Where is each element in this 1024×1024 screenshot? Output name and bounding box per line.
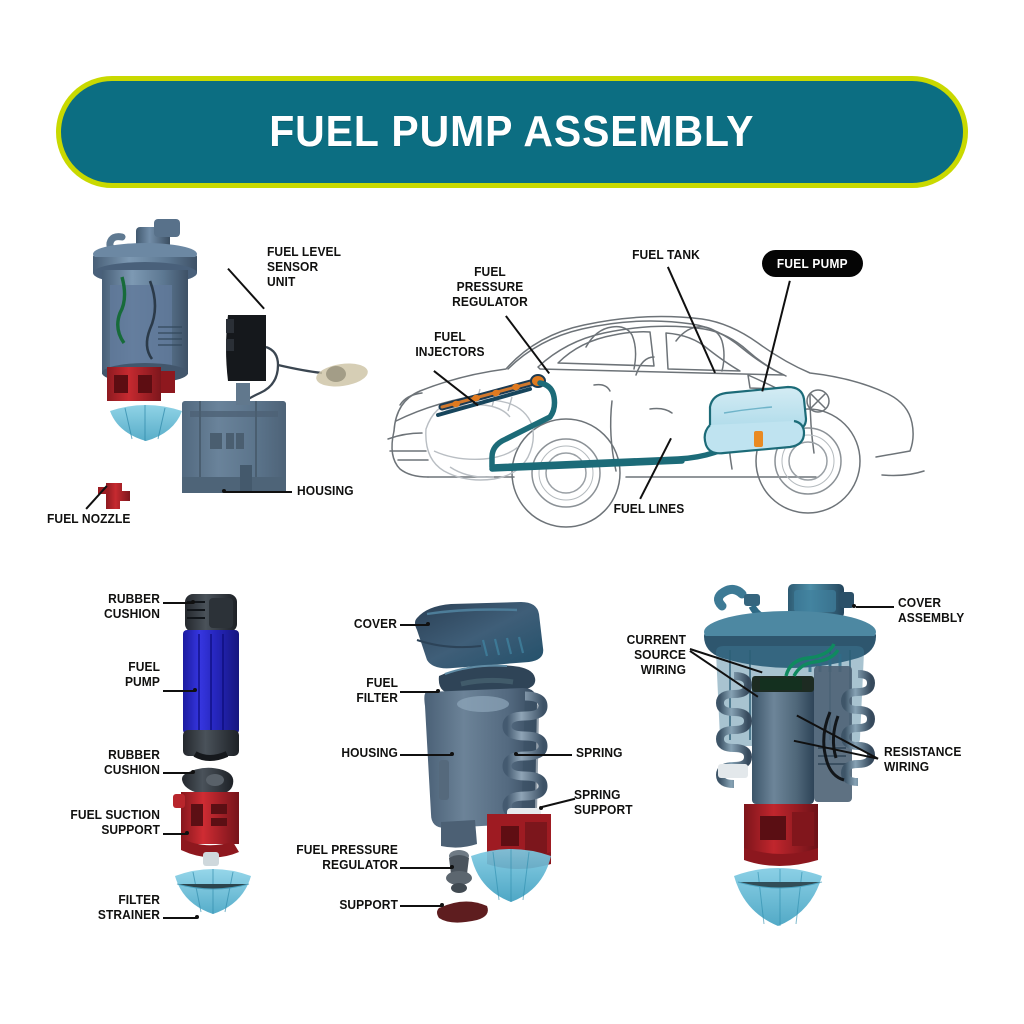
label-fuel-pressure-regulator-center: FUEL PRESSURE REGULATOR xyxy=(281,843,398,873)
label-fuel-suction-support: FUEL SUCTION SUPPORT xyxy=(45,808,160,838)
leader-support xyxy=(400,905,442,907)
leader-dot-rubber-cushion-bottom xyxy=(191,770,195,774)
label-fuel-injectors: FUEL INJECTORS xyxy=(406,330,494,360)
page-title: FUEL PUMP ASSEMBLY xyxy=(269,107,754,157)
leader-fuel-filter xyxy=(400,691,438,693)
leader-cover xyxy=(400,624,428,626)
label-housing: HOUSING xyxy=(297,484,354,499)
header-banner: FUEL PUMP ASSEMBLY xyxy=(56,76,968,188)
leader-dot-housing-center xyxy=(450,752,454,756)
label-filter-strainer: FILTER STRAINER xyxy=(66,893,160,923)
housing-block-art xyxy=(182,383,286,493)
leader-dot-cover xyxy=(426,622,430,626)
leader-fuel-suction-support xyxy=(163,833,187,835)
label-rubber-cushion-top: RUBBER CUSHION xyxy=(64,592,160,622)
label-fuel-nozzle: FUEL NOZZLE xyxy=(47,512,131,527)
label-current-source-wiring: CURRENT SOURCE WIRING xyxy=(603,633,686,677)
label-housing-center: HOUSING xyxy=(323,746,398,761)
label-resistance-wiring: RESISTANCE WIRING xyxy=(884,745,984,775)
label-fuel-lines: FUEL LINES xyxy=(600,502,698,517)
leader-fuel-pressure-regulator-center xyxy=(400,867,452,869)
diagram-page: FUEL PUMP ASSEMBLY xyxy=(0,0,1024,1024)
fuel-pump-cartridge-art xyxy=(165,588,305,928)
leader-dot-fuel-pressure-regulator-center xyxy=(450,865,454,869)
leader-dot-fuel-pump-cartridge xyxy=(193,688,197,692)
badge-fuel-pump-label: FUEL PUMP xyxy=(777,257,848,271)
label-rubber-cushion-bottom: RUBBER CUSHION xyxy=(64,748,160,778)
label-fuel-filter: FUEL FILTER xyxy=(331,676,398,706)
leader-dot-fuel-filter xyxy=(436,689,440,693)
module-filter-strainer xyxy=(110,405,182,441)
label-fuel-pressure-regulator: FUEL PRESSURE REGULATOR xyxy=(432,265,547,309)
label-fuel-tank: FUEL TANK xyxy=(616,248,716,263)
leader-dot-fuel-suction-support xyxy=(185,831,189,835)
leader-dot-filter-strainer xyxy=(195,915,199,919)
label-support: SUPPORT xyxy=(331,898,398,913)
module-red-support-art xyxy=(744,804,818,866)
module-red-bracket xyxy=(107,367,175,401)
leader-housing xyxy=(224,491,292,493)
label-spring-support: SPRING SUPPORT xyxy=(574,788,651,818)
cover-art xyxy=(415,602,543,668)
filter-strainer-art xyxy=(175,852,251,914)
leader-filter-strainer xyxy=(163,917,197,919)
label-cover: COVER xyxy=(337,617,397,632)
label-spring: SPRING xyxy=(576,746,643,761)
fuel-pressure-regulator-art xyxy=(446,850,472,893)
leader-dot-housing xyxy=(222,489,226,493)
leader-dot-cover-assembly xyxy=(852,604,856,608)
fuel-suction-support-art xyxy=(173,792,239,858)
leader-housing-center xyxy=(400,754,452,756)
bottom-strainer-art xyxy=(471,849,551,902)
module-strainer-art xyxy=(734,868,822,926)
inner-pump-art xyxy=(752,666,852,804)
leader-dot-spring xyxy=(514,752,518,756)
label-fuel-pump-cartridge: FUEL PUMP xyxy=(79,660,160,690)
label-cover-assembly: COVER ASSEMBLY xyxy=(898,596,994,626)
badge-fuel-pump: FUEL PUMP xyxy=(762,250,863,277)
leader-dot-rubber-cushion-top xyxy=(191,600,195,604)
leader-rubber-cushion-top xyxy=(163,602,193,604)
housing-assembly-art xyxy=(405,600,625,930)
leader-dot-spring-support xyxy=(539,806,543,810)
fuel-rail-injectors xyxy=(438,375,545,415)
support-art xyxy=(437,901,488,922)
leader-dot-support xyxy=(440,903,444,907)
leader-fuel-pump-cartridge xyxy=(163,690,195,692)
leader-cover-assembly xyxy=(856,606,894,608)
label-fuel-level-sensor-unit: FUEL LEVEL SENSOR UNIT xyxy=(267,245,341,289)
fuel-tank-art xyxy=(705,387,806,453)
module-body xyxy=(102,270,188,383)
fuel-pump-body-art xyxy=(183,630,239,758)
leader-rubber-cushion-bottom xyxy=(163,772,193,774)
spring-art xyxy=(507,696,543,816)
leader-spring xyxy=(516,754,572,756)
